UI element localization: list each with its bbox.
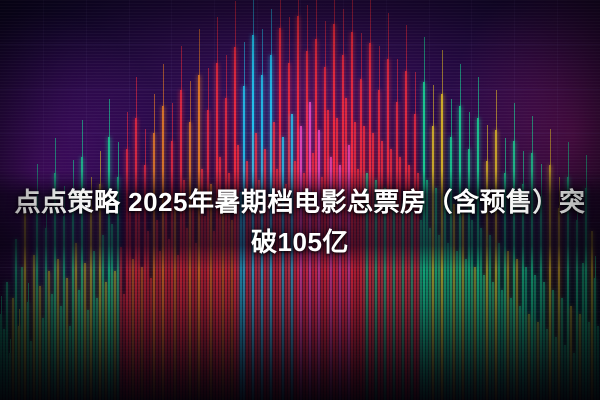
- scanline: [0, 99, 600, 100]
- scanline: [0, 15, 600, 16]
- scanline: [0, 108, 600, 109]
- scanline: [0, 138, 600, 139]
- scanline: [0, 78, 600, 79]
- scanline: [0, 102, 600, 103]
- scanline: [0, 51, 600, 52]
- scanline: [0, 153, 600, 154]
- scanline: [0, 75, 600, 76]
- scanline: [0, 105, 600, 106]
- scanline: [0, 69, 600, 70]
- scanline: [0, 129, 600, 130]
- scanline: [0, 147, 600, 148]
- scanline: [0, 120, 600, 121]
- scanline: [0, 87, 600, 88]
- scanline: [0, 135, 600, 136]
- scanline: [0, 3, 600, 4]
- scanline: [0, 123, 600, 124]
- scanline: [0, 96, 600, 97]
- scanline: [0, 27, 600, 28]
- scanline: [0, 66, 600, 67]
- headline-text: 点点策略 2025年暑期档电影总票房（含预售）突破105亿: [0, 182, 600, 262]
- scanline: [0, 54, 600, 55]
- scanline: [0, 30, 600, 31]
- scanline: [0, 90, 600, 91]
- scanline: [0, 93, 600, 94]
- scanline: [0, 0, 600, 1]
- scanline: [0, 72, 600, 73]
- scanline: [0, 156, 600, 157]
- scanline: [0, 12, 600, 13]
- scanline: [0, 132, 600, 133]
- scanline: [0, 168, 600, 169]
- scanline: [0, 84, 600, 85]
- thumbnail-canvas: 点点策略 2025年暑期档电影总票房（含预售）突破105亿: [0, 0, 600, 400]
- scanline: [0, 36, 600, 37]
- scanline: [0, 9, 600, 10]
- scanline: [0, 114, 600, 115]
- scanline: [0, 60, 600, 61]
- scanline: [0, 165, 600, 166]
- scanline: [0, 24, 600, 25]
- scanline: [0, 117, 600, 118]
- scanline: [0, 159, 600, 160]
- scanline: [0, 144, 600, 145]
- scanline: [0, 63, 600, 64]
- scanline: [0, 57, 600, 58]
- scanline: [0, 162, 600, 163]
- scanline: [0, 150, 600, 151]
- scanline: [0, 42, 600, 43]
- scanline: [0, 33, 600, 34]
- scanline: [0, 18, 600, 19]
- scanline: [0, 21, 600, 22]
- scanline: [0, 81, 600, 82]
- scanline: [0, 126, 600, 127]
- scanline: [0, 45, 600, 46]
- scanline: [0, 39, 600, 40]
- scanline: [0, 141, 600, 142]
- chart-wick: [226, 55, 227, 98]
- scanline: [0, 111, 600, 112]
- scanline: [0, 48, 600, 49]
- scanline: [0, 6, 600, 7]
